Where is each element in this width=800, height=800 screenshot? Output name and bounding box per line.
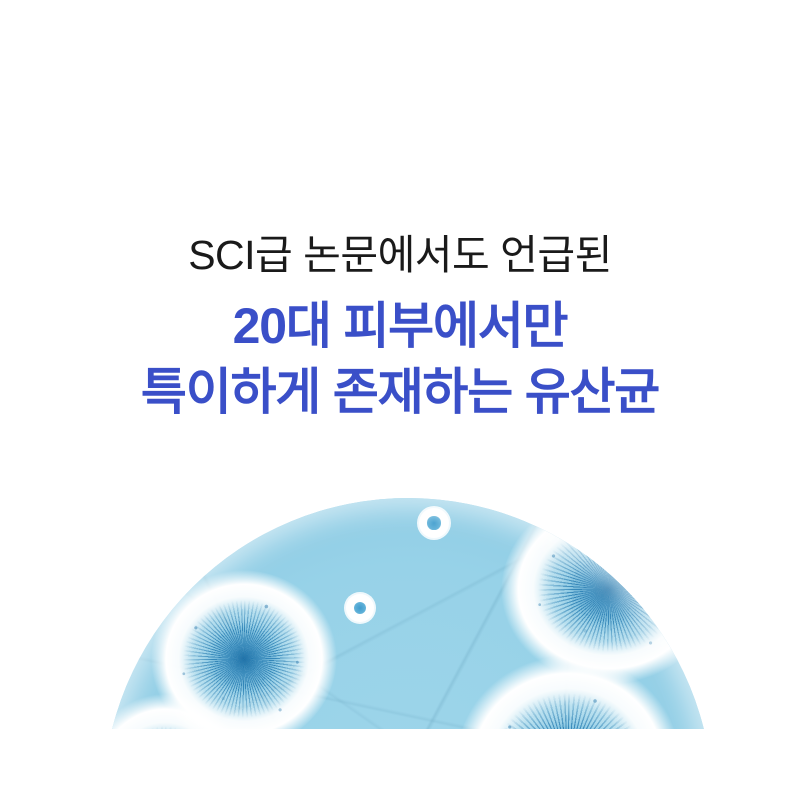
- satellite-ring-top: [419, 508, 449, 538]
- promo-poster: SCI급 논문에서도 언급된 20대 피부에서만 특이하게 존재하는 유산균: [0, 0, 800, 800]
- satellite-ring-mid: [346, 594, 374, 622]
- petri-dish: [103, 498, 713, 729]
- headline-main-line-2: 특이하게 존재하는 유산균: [0, 359, 800, 425]
- colony-top-right: [501, 498, 713, 684]
- headline-kicker: SCI급 논문에서도 언급된: [0, 228, 800, 283]
- headline-main-line-1: 20대 피부에서만: [0, 293, 800, 359]
- headline-block: SCI급 논문에서도 언급된 20대 피부에서만 특이하게 존재하는 유산균: [0, 228, 800, 425]
- petri-dish-photo: [0, 498, 800, 729]
